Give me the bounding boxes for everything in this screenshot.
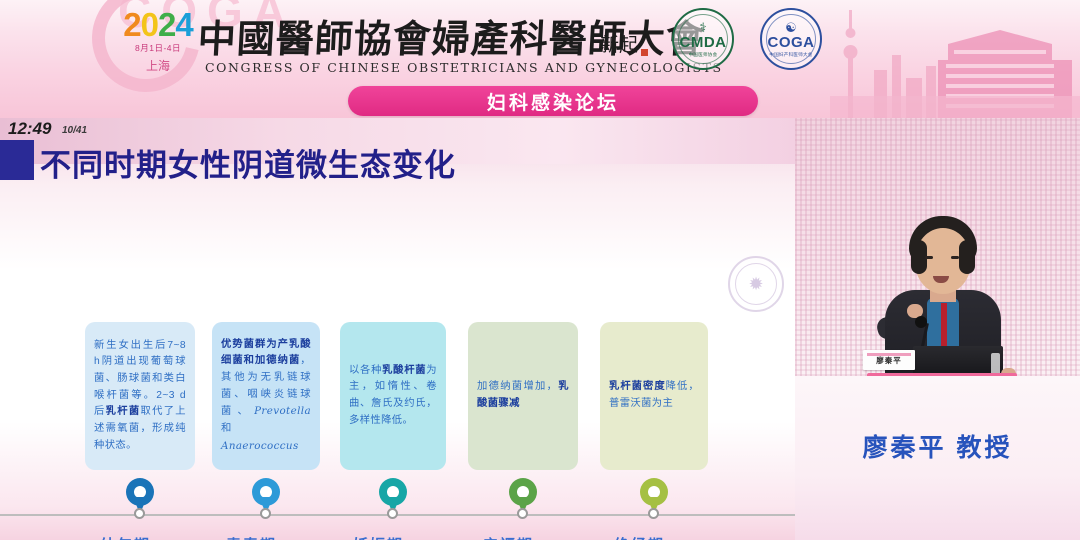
- speaker-video-panel[interactable]: 廖秦平 廖秦平 教授: [795, 118, 1080, 540]
- stage-label-menopause: 绝经期: [614, 534, 665, 540]
- stage-card-puberty: 优势菌群为产乳酸细菌和加德纳菌，其他为无乳链球菌、咽峡炎链球菌、Prevotel…: [212, 322, 320, 470]
- timeline-dot-menopause: [648, 508, 659, 519]
- stage-cards-container: 新生女出生后7~8 h阴道出现葡萄球菌、肠球菌和类白喉杆菌等。2~3 d后乳杆菌…: [0, 118, 795, 540]
- card-text: 加德纳菌增加，乳酸菌骤减: [477, 379, 569, 412]
- shanghai-skyline-graphic: [830, 0, 1080, 118]
- congress-title-en: CONGRESS OF CHINESE OBSTETRICIANS AND GY…: [205, 60, 723, 75]
- stage-label-pregnancy: 妊娠期: [353, 534, 404, 540]
- stage-label-puberty: 青春期: [226, 534, 277, 540]
- stage-card-infancy: 新生女出生后7~8 h阴道出现葡萄球菌、肠球菌和类白喉杆菌等。2~3 d后乳杆菌…: [85, 322, 195, 470]
- timeline-dot-infancy: [134, 508, 145, 519]
- coga-cn-name: 中国妇产科医师大会: [769, 52, 812, 58]
- stage-card-puerperium: 加德纳菌增加，乳酸菌骤减: [468, 322, 578, 470]
- cmda-abbr: CMDA: [680, 34, 727, 51]
- speaker-eye-left: [925, 256, 933, 259]
- coga-logo: ☯ COGA 中国妇产科医师大会: [760, 8, 822, 70]
- stage-card-pregnancy: 以各种乳酸杆菌为主，如惰性、卷曲、詹氏及约氏，多样性降低。: [340, 322, 446, 470]
- red-seal-icon: [641, 49, 648, 56]
- timeline-dot-pregnancy: [387, 508, 398, 519]
- calligraphy-xinqi: 新起: [600, 30, 638, 57]
- conference-header-banner: COGA 2024 8月1日-4日 上海 中國醫師協會婦產科醫師大會 CONGR…: [0, 0, 1080, 118]
- card-text: 以各种乳酸杆菌为主，如惰性、卷曲、詹氏及约氏，多样性降低。: [349, 363, 437, 430]
- cmda-logo: ⚕ CMDA 中国医师协会: [672, 8, 734, 70]
- coga-abbr: COGA: [768, 34, 815, 51]
- presentation-slide: 12:49 10/41 不同时期女性阴道微生态变化 清华大学临床医学院 新生女出…: [0, 118, 795, 540]
- stage-card-menopause: 乳杆菌密度降低，普雷沃菌为主: [600, 322, 708, 470]
- timeline-dot-puerperium: [517, 508, 528, 519]
- speaker-hair-right: [959, 240, 975, 274]
- caduceus-icon: ⚕: [699, 21, 706, 34]
- conference-dates: 8月1日-4日: [115, 42, 201, 54]
- microphone-head-icon: [915, 316, 927, 328]
- forum-title-banner: 妇科感染论坛: [348, 86, 758, 116]
- podium-nameplate: 廖秦平: [863, 350, 915, 370]
- card-text: 优势菌群为产乳酸细菌和加德纳菌，其他为无乳链球菌、咽峡炎链球菌、Prevotel…: [221, 337, 311, 456]
- stage-label-infancy: 幼年期: [100, 534, 151, 540]
- speaker-eye-right: [951, 256, 959, 259]
- card-text: 新生女出生后7~8 h阴道出现葡萄球菌、肠球菌和类白喉杆菌等。2~3 d后乳杆菌…: [94, 338, 186, 455]
- card-text: 乳杆菌密度降低，普雷沃菌为主: [609, 379, 699, 412]
- timeline-dot-puberty: [260, 508, 271, 519]
- stage-label-puerperium: 产褥期: [483, 534, 534, 540]
- conference-city: 上海: [115, 57, 201, 74]
- year-block: 2024 8月1日-4日 上海: [115, 8, 201, 74]
- speaker-name-label: 廖秦平 教授: [795, 428, 1080, 464]
- cmda-cn-name: 中国医师协会: [689, 52, 718, 58]
- year-digits: 2024: [115, 8, 201, 41]
- mother-child-icon: ☯: [785, 21, 797, 34]
